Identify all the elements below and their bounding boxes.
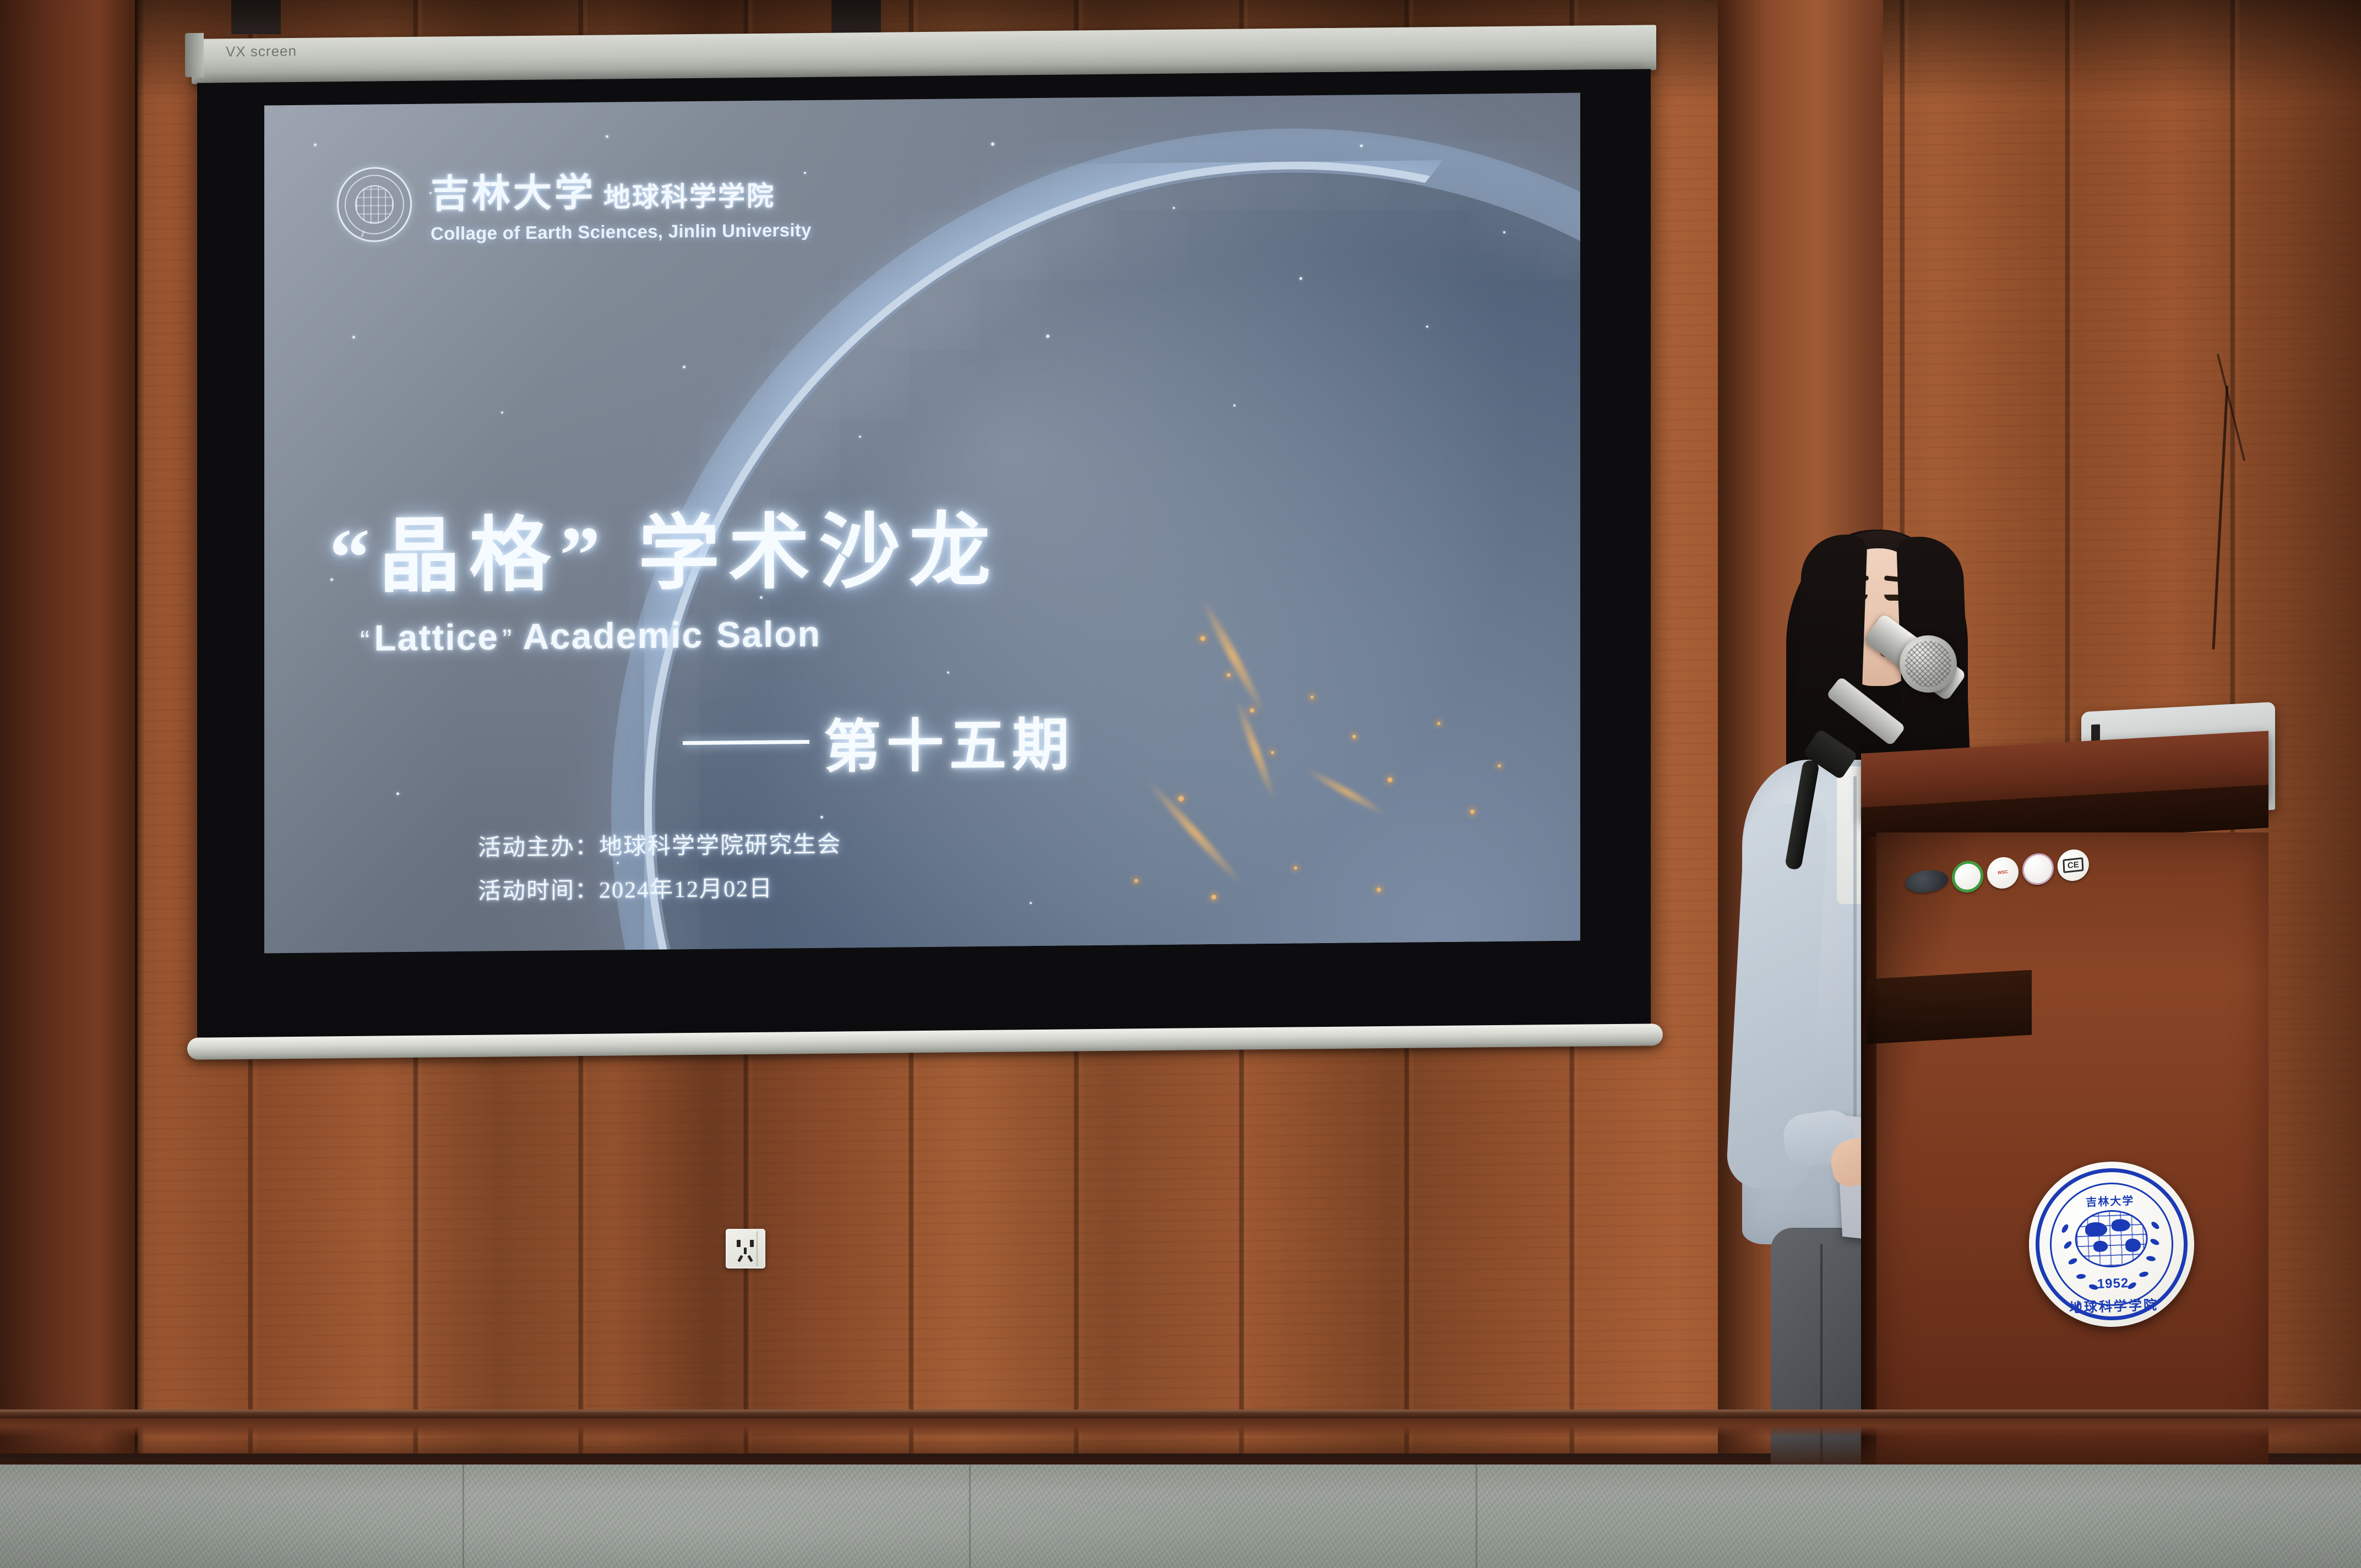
lectern-inner-shelf [1867, 970, 2032, 1044]
university-name-cn: 吉林大学 [431, 162, 596, 219]
badge-icon [1905, 868, 1949, 894]
power-outlet-divider [757, 1231, 758, 1266]
seal-wreath [2056, 1189, 2168, 1300]
slide-title-block: “晶格” 学术沙龙 “Lattice”AcademicSalon [329, 484, 999, 660]
seal-ring-text [339, 168, 410, 240]
college-name-cn: 地球科学学院 [603, 175, 775, 217]
screen-mount-bracket [831, 0, 881, 34]
screen-brand-label: VX screen [226, 42, 297, 60]
power-outlet-pins [738, 1252, 753, 1263]
floor-texture [0, 1464, 2361, 1568]
episode-block: 第十五期 [683, 698, 1075, 785]
certification-badge-icon [1951, 859, 1984, 894]
projection-screen-assembly: VX screen [182, 0, 1679, 1068]
quote-close: ” [502, 624, 513, 656]
scenic-badge-icon [2021, 852, 2054, 886]
handheld-microphone-icon[interactable] [1900, 635, 1957, 693]
seal-globe-icon [2074, 1209, 2149, 1269]
meta-organizer: 活动主办：地球科学学院研究生会 [478, 825, 841, 862]
lecture-room: VX screen [0, 0, 2361, 1568]
baseboard-highlight [0, 1409, 2361, 1418]
quote-open: “ [360, 625, 371, 657]
ce-badge-icon: CE [2057, 848, 2090, 883]
floor-tile-seam [969, 1464, 971, 1568]
floor-tile-seam [463, 1464, 464, 1568]
badge-label: CE [2063, 857, 2083, 873]
title-word-lattice: Lattice [374, 616, 499, 658]
slide-content: 吉林大学 地球科学学院 Collage of Earth Sciences, J… [264, 93, 1580, 954]
projected-slide: 吉林大学 地球科学学院 Collage of Earth Sciences, J… [264, 93, 1580, 954]
badge-label: WSC [1998, 870, 2008, 875]
floor-tile-seam [1476, 1464, 1477, 1568]
brand-english-line: Collage of Earth Sciences, Jinlin Univer… [431, 220, 812, 244]
left-wall-pillar [0, 0, 138, 1453]
episode-rule [683, 740, 809, 745]
title-word-academic: Academic [523, 614, 703, 657]
slide-title-cn: “晶格” 学术沙龙 [329, 484, 999, 609]
left-pillar-shadow [135, 0, 145, 1453]
meta-date: 活动时间：2024年12月02日 [478, 869, 841, 906]
brand-text-block: 吉林大学 地球科学学院 Collage of Earth Sciences, J… [431, 160, 812, 244]
slide-meta-block: 活动主办：地球科学学院研究生会 活动时间：2024年12月02日 [478, 825, 841, 906]
screen-roller-end-cap [185, 33, 204, 77]
screen-mount-bracket [231, 0, 281, 34]
slide-title-en: “Lattice”AcademicSalon [360, 611, 999, 659]
wsc-badge-icon: WSC [1987, 856, 2020, 890]
episode-number: 第十五期 [824, 698, 1075, 783]
title-word-salon: Salon [716, 613, 821, 655]
brand-chinese-line: 吉林大学 地球科学学院 [431, 160, 812, 219]
university-seal-icon [337, 166, 412, 242]
slide-brand-block: 吉林大学 地球科学学院 Collage of Earth Sciences, J… [337, 160, 812, 245]
